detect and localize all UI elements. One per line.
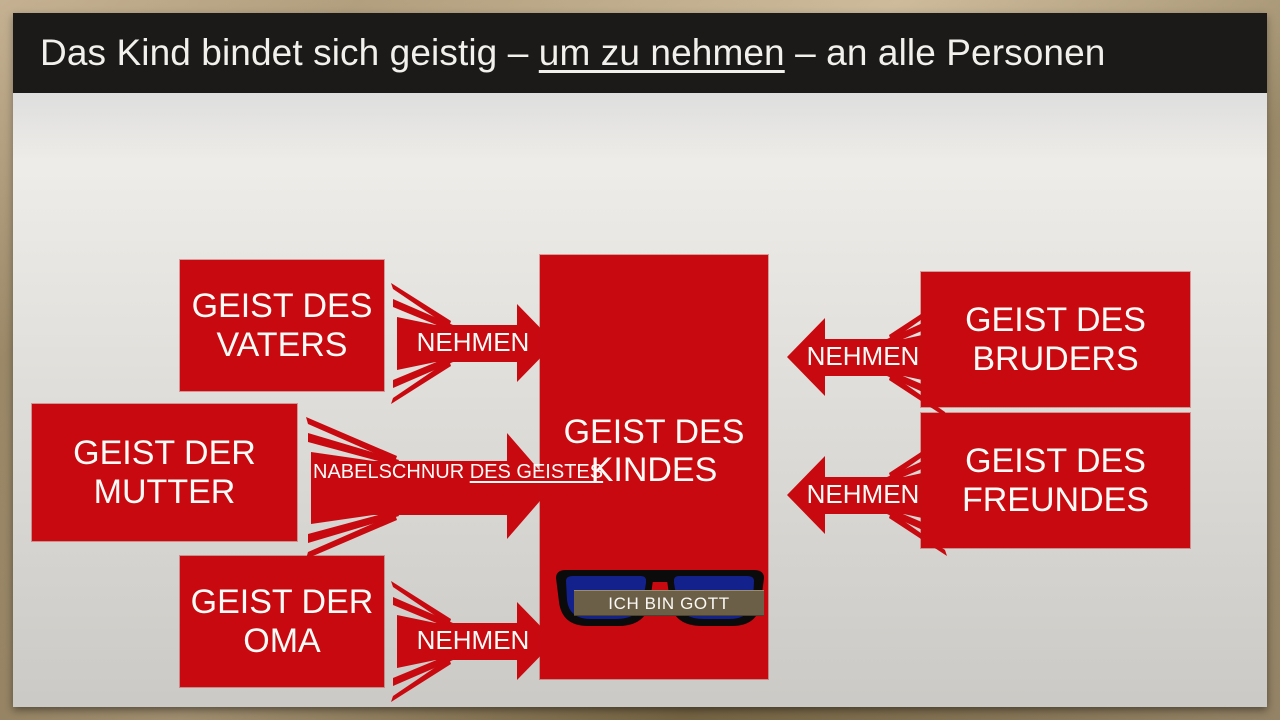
title-before: Das Kind bindet sich geistig – [40,32,539,73]
title-after: – an alle Personen [785,32,1106,73]
slide-title-bar: Das Kind bindet sich geistig – um zu neh… [13,13,1267,93]
arrow-label-mutter: NABELSCHNUR DES GEISTES [313,461,529,485]
box-freund-line2: FREUNDES [962,481,1149,519]
box-vater-line1: GEIST DES [192,287,373,325]
slide-frame: Das Kind bindet sich geistig – um zu neh… [0,0,1280,720]
box-geist-der-oma[interactable]: GEIST DER OMA [180,556,384,687]
arrow-label-vater: NEHMEN [397,327,549,358]
box-kind-line2: KINDES [591,451,718,489]
arrow-label-oma-text: NEHMEN [417,625,530,655]
box-geist-des-bruders[interactable]: GEIST DES BRUDERS [921,272,1190,407]
slide-canvas: Das Kind bindet sich geistig – um zu neh… [13,13,1267,707]
box-mutter-line1: GEIST DER [73,434,256,472]
box-oma-line2: OMA [243,622,320,660]
box-vater-line2: VATERS [217,326,348,364]
sunglasses-banner-text: ICH BIN GOTT [574,594,764,614]
arrow-label-freund: NEHMEN [797,479,929,510]
title-underlined: um zu nehmen [539,32,785,73]
box-geist-des-vaters[interactable]: GEIST DES VATERS [180,260,384,391]
arrow-label-mutter-line1: NABELSCHNUR [313,461,464,483]
arrow-label-freund-text: NEHMEN [807,479,920,509]
box-bruder-line1: GEIST DES [965,301,1146,339]
arrow-label-oma: NEHMEN [397,625,549,656]
box-kind-line1: GEIST DES [564,413,745,451]
arrow-label-vater-text: NEHMEN [417,327,530,357]
arrow-label-bruder: NEHMEN [797,341,929,372]
arrow-label-bruder-text: NEHMEN [807,341,920,371]
box-oma-line1: GEIST DER [191,583,374,621]
box-geist-des-freundes[interactable]: GEIST DES FREUNDES [921,413,1190,548]
box-mutter-line2: MUTTER [94,473,236,511]
box-freund-line1: GEIST DES [965,442,1146,480]
arrow-mutter-to-kind [305,413,561,559]
arrow-label-mutter-line2: DES GEISTES [470,461,603,483]
box-bruder-line2: BRUDERS [972,340,1138,378]
box-geist-der-mutter[interactable]: GEIST DER MUTTER [32,404,297,541]
page-title: Das Kind bindet sich geistig – um zu neh… [13,32,1105,74]
